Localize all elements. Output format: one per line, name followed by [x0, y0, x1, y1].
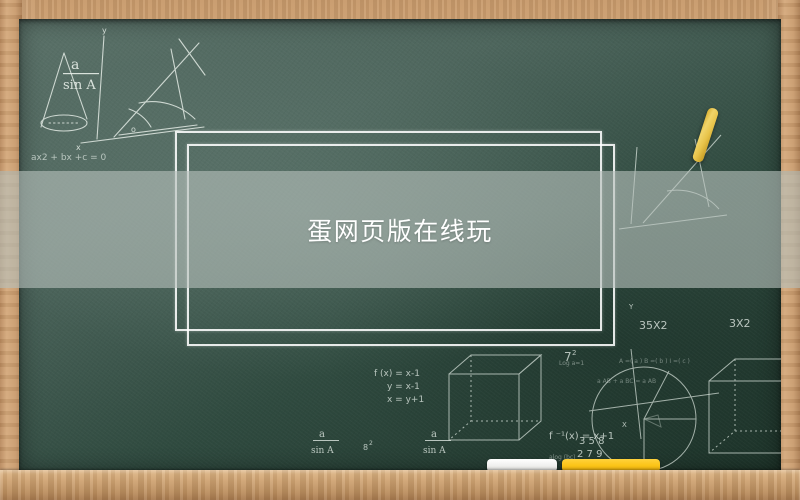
- svg-text:sin A: sin A: [311, 446, 334, 456]
- chalk-tray: [0, 470, 800, 500]
- svg-text:a: a: [431, 429, 437, 440]
- svg-text:A =( a ) B =( b ) I =( c ): A =( a ) B =( b ) I =( c ): [619, 358, 690, 365]
- svg-text:8: 8: [363, 443, 368, 452]
- svg-text:o: o: [131, 125, 136, 134]
- svg-text:a: a: [319, 429, 325, 440]
- svg-text:y: y: [102, 26, 107, 35]
- svg-text:f (x) = x-1: f (x) = x-1: [374, 369, 420, 379]
- chalk-circle-sector-right: [589, 349, 719, 471]
- svg-text:x: x: [76, 143, 81, 152]
- svg-text:sin A: sin A: [63, 78, 96, 93]
- svg-text:2: 2: [572, 349, 576, 357]
- svg-text:35X2: 35X2: [639, 319, 668, 332]
- svg-text:X: X: [622, 421, 627, 429]
- svg-text:ax2 + bx +c = 0: ax2 + bx +c = 0: [31, 153, 106, 163]
- svg-text:3 5 8: 3 5 8: [579, 436, 604, 447]
- chalkboard-banner-image: y x o a sin A ax2 + bx +c = 0: [0, 0, 800, 500]
- chalk-formula-quadratic: ax2 + bx +c = 0: [31, 153, 106, 163]
- svg-text:2: 2: [369, 440, 373, 447]
- caption-title: 蛋网页版在线玩: [307, 212, 493, 248]
- svg-text:Log a=1: Log a=1: [559, 360, 584, 367]
- svg-text:x = y+1: x = y+1: [387, 395, 424, 405]
- svg-text:a: a: [71, 57, 79, 73]
- chalk-formula-sin-a-b2: a sin A: [423, 429, 451, 456]
- svg-text:y = x-1: y = x-1: [387, 382, 420, 392]
- chalk-formula-sin-a-b1: a sin A: [311, 429, 339, 456]
- chalk-formula-sin-a-top: a sin A: [63, 57, 99, 93]
- svg-text:3X2: 3X2: [729, 317, 751, 330]
- chalk-cube-bottom-right: [709, 359, 781, 453]
- caption-band: 蛋网页版在线玩: [0, 171, 800, 288]
- svg-text:sin A: sin A: [423, 446, 446, 456]
- svg-text:Y: Y: [628, 303, 634, 311]
- chalk-cube-bottom-center: [449, 355, 541, 440]
